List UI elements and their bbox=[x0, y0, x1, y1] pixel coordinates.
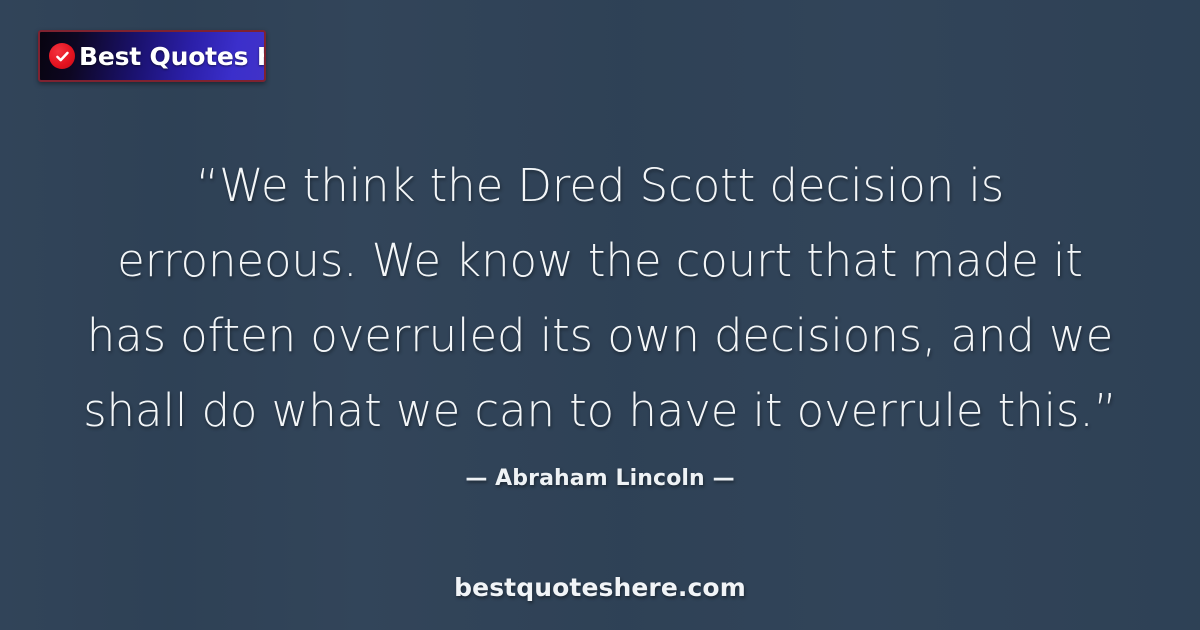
site-logo-badge[interactable]: Best Quotes Here bbox=[38, 30, 266, 82]
quote-attribution: — Abraham Lincoln — bbox=[0, 466, 1200, 491]
quote-line: shall do what we can to have it overrule… bbox=[70, 373, 1130, 448]
quote-line: erroneous. We know the court that made i… bbox=[70, 223, 1130, 298]
quote-line: has often overruled its own decisions, a… bbox=[70, 298, 1130, 373]
quote-text-block: “We think the Dred Scott decision is err… bbox=[0, 148, 1200, 448]
quote-line: “We think the Dred Scott decision is bbox=[70, 148, 1130, 223]
site-logo-text: Best Quotes Here bbox=[77, 44, 266, 69]
check-circle-icon bbox=[49, 43, 75, 69]
footer-website-url[interactable]: bestquoteshere.com bbox=[0, 573, 1200, 602]
quote-card: Best Quotes Here “We think the Dred Scot… bbox=[0, 0, 1200, 630]
